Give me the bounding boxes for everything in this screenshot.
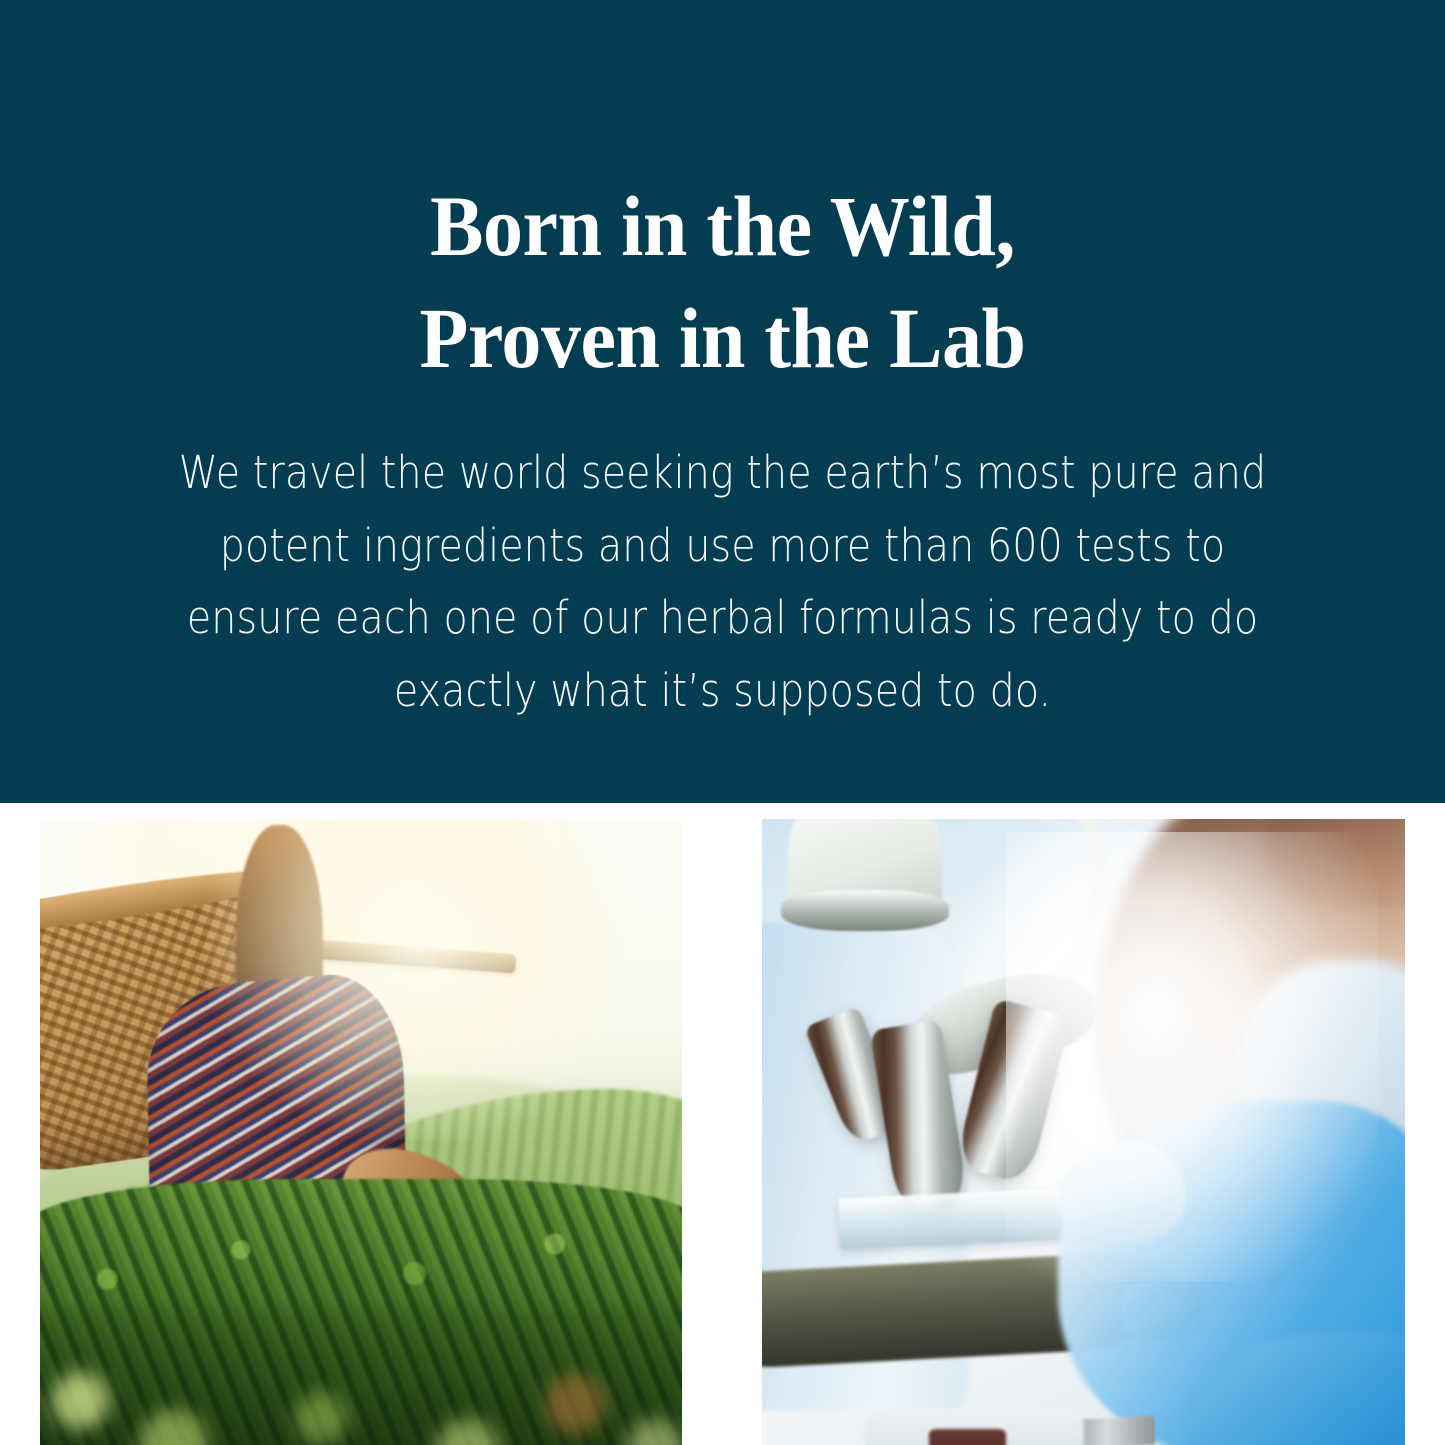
brand-story-banner: Born in the Wild, Proven in the Lab We t… bbox=[0, 0, 1445, 1445]
hero-text-panel: Born in the Wild, Proven in the Lab We t… bbox=[0, 0, 1445, 803]
photo-strip bbox=[0, 803, 1445, 1445]
tea-harvester-photo bbox=[40, 819, 682, 1445]
hero-body-copy: We travel the world seeking the earth’s … bbox=[164, 437, 1281, 727]
foreground-bokeh bbox=[40, 1307, 682, 1445]
eyepiece-collar bbox=[781, 890, 948, 932]
page-title: Born in the Wild, Proven in the Lab bbox=[51, 170, 1395, 394]
base-shadow bbox=[929, 1429, 1006, 1445]
laboratory-microscope-photo bbox=[762, 819, 1405, 1445]
